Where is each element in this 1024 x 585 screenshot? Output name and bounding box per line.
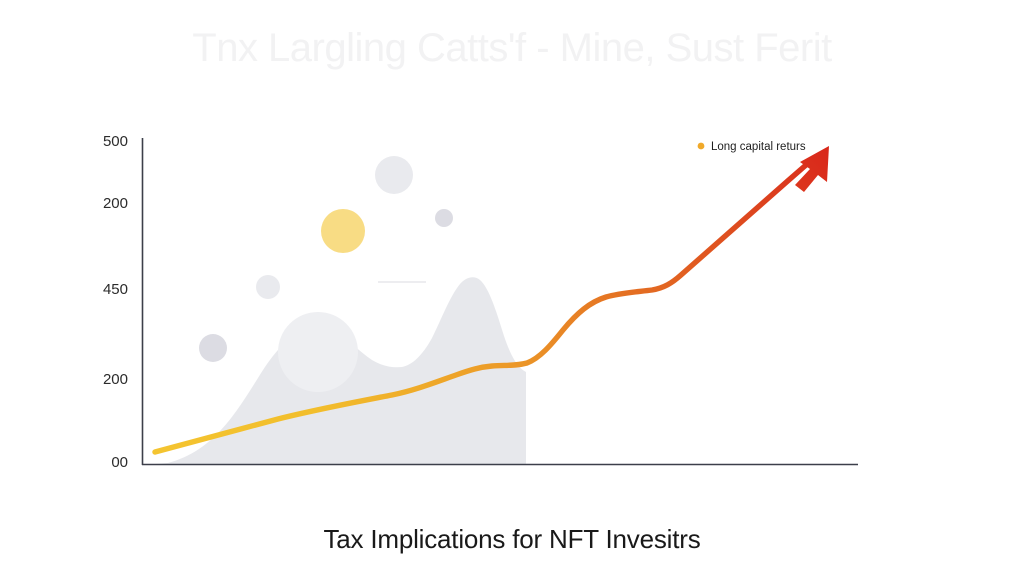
page-caption: Tax Implications for NFT Invesitrs [0,524,1024,555]
y-axis-tick-labels: 500 200 450 200 00 [103,133,128,471]
y-tick-label: 00 [111,454,128,471]
bubble-yellow [321,209,365,253]
legend-marker-dot [698,143,705,150]
slide-canvas: Tnx Largling Catts'f - Mine, Sust Ferit [0,0,1024,585]
y-tick-label: 200 [103,371,128,388]
decorative-bubbles [199,156,453,392]
legend-label: Long capital returs [711,141,806,153]
y-tick-label: 450 [103,281,128,298]
bubble-gray-top [375,156,413,194]
bubble-gray-low-left [199,334,227,362]
bubble-gray-mid-left [256,275,280,299]
faint-line-artifact [378,281,426,283]
y-tick-label: 500 [103,133,128,150]
chart-area: 500 200 450 200 00 Long capital returs [0,0,1024,585]
bubble-gray-small-right [435,209,453,227]
bubble-gray-large [278,312,358,392]
y-tick-label: 200 [103,195,128,212]
chart-svg: 500 200 450 200 00 Long capital returs [0,0,1024,585]
legend[interactable]: Long capital returs [698,141,806,153]
